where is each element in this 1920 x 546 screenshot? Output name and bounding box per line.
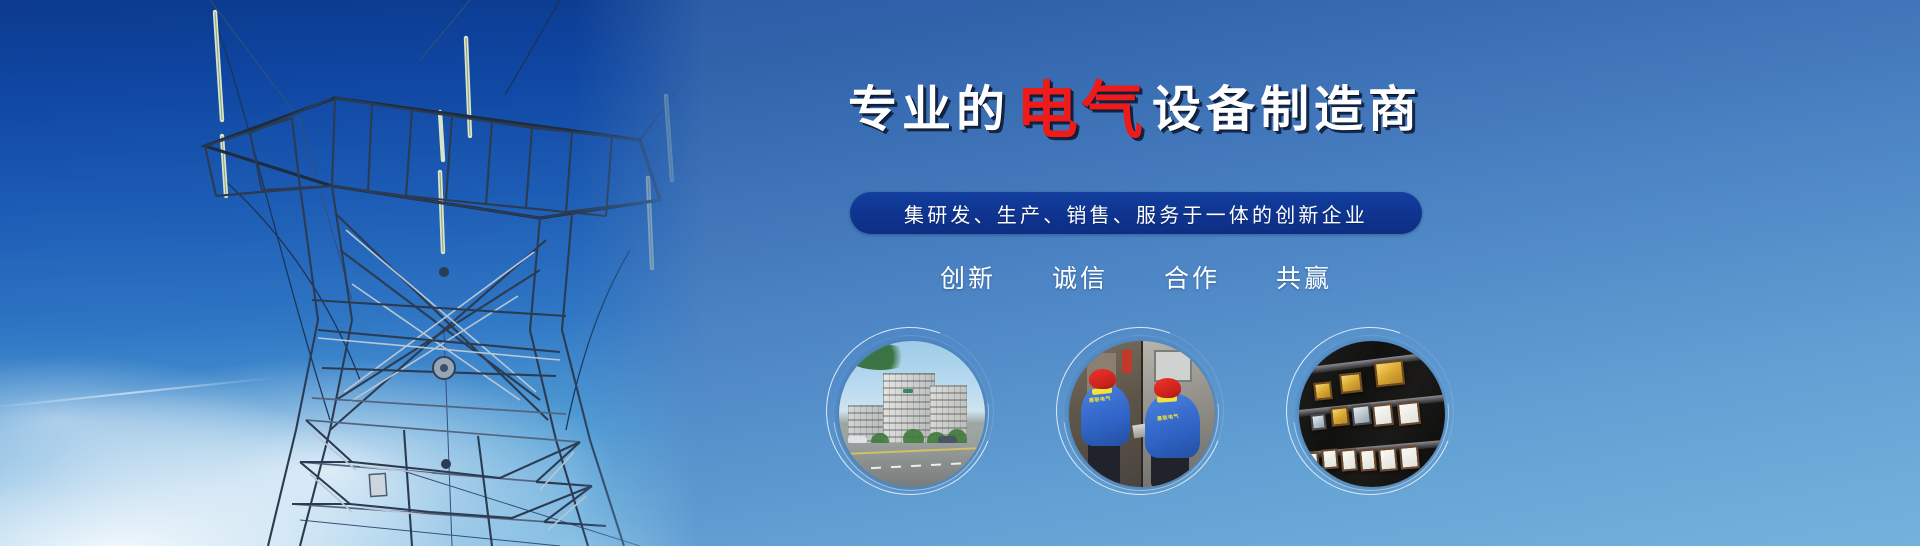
keyword-integrity: 诚信 (1052, 259, 1108, 295)
tagline-pill: 集研发、生产、销售、服务于一体的创新企业 (850, 192, 1422, 234)
office-building-photo (839, 341, 985, 487)
tagline-text: 集研发、生产、销售、服务于一体的创新企业 (904, 199, 1368, 228)
headline-part1: 专业的 (848, 86, 1010, 135)
hero-banner: 专业的 电气 设备制造商 集研发、生产、销售、服务于一体的创新企业 创新 诚信 … (0, 0, 1920, 546)
certificate-wall-photo (1299, 341, 1445, 487)
headline-part2: 设备制造商 (1152, 86, 1422, 135)
workers-photo-alt: 身穿蓝色工装、佩戴红色安全帽的工人在配电柜前作业 (1050, 325, 1051, 326)
circle-photo-certificates: 荣誉证书与奖牌展示墙 (1280, 325, 1460, 505)
circle-photo-office: 公司办公大楼外景 (820, 325, 1000, 505)
headline: 专业的 电气 设备制造商 (848, 74, 1588, 146)
keyword-cooperation: 合作 (1164, 259, 1220, 295)
office-photo-alt: 公司办公大楼外景 (820, 325, 821, 326)
keyword-innovation: 创新 (940, 259, 996, 295)
transmission-tower-photo (0, 0, 700, 546)
keyword-winwin: 共赢 (1276, 259, 1332, 295)
circle-photo-row: 公司办公大楼外景 惠联电气惠联电气 身穿蓝色工装、佩戴红色安全帽的工人在配电柜前… (800, 325, 1500, 505)
certificates-photo-alt: 荣誉证书与奖牌展示墙 (1280, 325, 1281, 326)
pylon-structure (0, 0, 700, 546)
keyword-row: 创新 诚信 合作 共赢 (850, 258, 1422, 296)
workers-installing-photo: 惠联电气惠联电气 (1069, 341, 1215, 487)
circle-photo-workers: 惠联电气惠联电气 身穿蓝色工装、佩戴红色安全帽的工人在配电柜前作业 (1050, 325, 1230, 505)
headline-highlight: 电气 (1016, 81, 1146, 143)
